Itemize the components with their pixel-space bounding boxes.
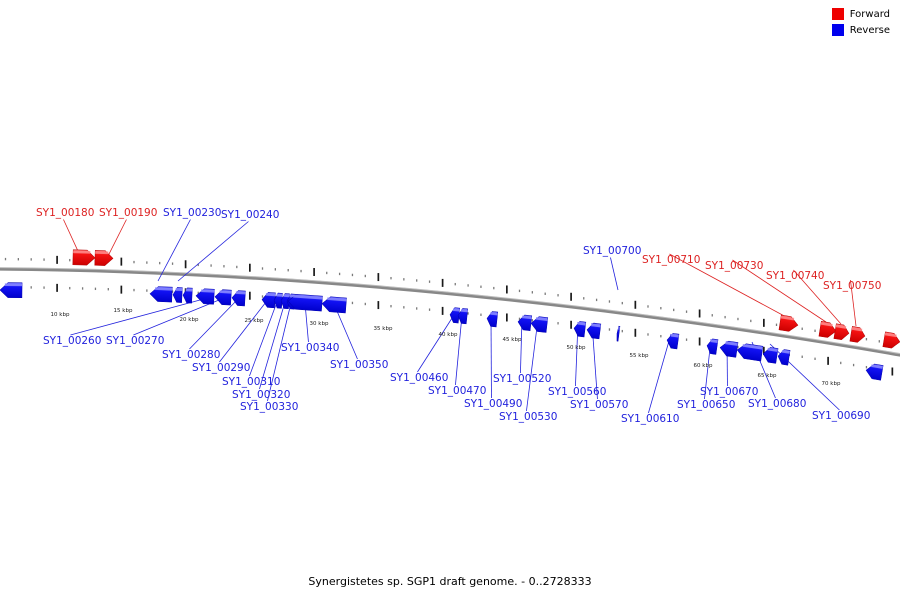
axis-minor-tick [172, 262, 173, 264]
gene-label[interactable]: SY1_00290 [192, 362, 250, 374]
gene-arrow[interactable] [706, 338, 718, 354]
gene-label[interactable]: SY1_00670 [700, 386, 758, 398]
gene-arrow[interactable] [530, 316, 548, 333]
legend-label-reverse: Reverse [850, 25, 890, 36]
scale-tick-label: 10 kbp [51, 312, 70, 318]
axis-minor-tick [480, 314, 481, 316]
axis-minor-tick [159, 262, 160, 264]
axis-minor-tick [557, 294, 558, 296]
axis-major-tick [185, 260, 187, 268]
gene-label-leader-line [133, 300, 219, 335]
axis-minor-tick [146, 261, 147, 263]
axis-minor-tick [750, 320, 751, 322]
gene-top-highlight [5, 283, 22, 286]
scale-tick-label: 40 kbp [439, 332, 458, 338]
axis-minor-tick [686, 310, 687, 312]
axis-major-tick [570, 321, 572, 329]
axis-minor-tick [814, 330, 815, 332]
axis-minor-tick [403, 306, 404, 308]
gene-label[interactable]: SY1_00490 [464, 398, 522, 410]
gene-label-leader-line [158, 220, 190, 282]
axis-minor-tick [352, 274, 353, 276]
axis-minor-tick [737, 318, 738, 320]
axis-minor-tick [853, 364, 854, 366]
gene-label[interactable]: SY1_00610 [621, 413, 679, 425]
axis-minor-tick [647, 333, 648, 335]
scale-tick-label: 65 kbp [758, 373, 777, 379]
axis-minor-tick [339, 273, 340, 275]
gene-top-highlight [186, 289, 193, 292]
axis-minor-tick [133, 261, 134, 263]
gene-arrow[interactable] [586, 322, 601, 338]
gene-arrow[interactable] [95, 250, 113, 266]
axis-minor-tick [275, 268, 276, 270]
axis-major-tick [506, 313, 508, 321]
axis-minor-tick [866, 338, 867, 340]
gene-label-leader-line [189, 300, 237, 349]
genome-map: 10 kbp15 kbp20 kbp25 kbp30 kbp35 kbp40 k… [0, 0, 900, 600]
axis-minor-tick [403, 278, 404, 280]
scale-tick-label: 45 kbp [503, 337, 522, 343]
axis-minor-tick [776, 324, 777, 326]
gene-arrow-layer[interactable] [0, 250, 900, 381]
axis-minor-tick [31, 286, 32, 288]
axis-minor-tick [724, 316, 725, 318]
axis-major-tick [313, 268, 315, 276]
scale-tick-label: 70 kbp [822, 381, 841, 387]
axis-major-tick [249, 264, 251, 272]
gene-label[interactable]: SY1_00240 [221, 209, 279, 221]
gene-label[interactable]: SY1_00680 [748, 398, 806, 410]
gene-top-highlight [176, 288, 183, 291]
axis-minor-tick [686, 338, 687, 340]
gene-label-leader-line [455, 315, 462, 385]
axis-minor-tick [390, 305, 391, 307]
gene-arrow[interactable] [183, 288, 193, 303]
gene-label[interactable]: SY1_00270 [106, 335, 164, 347]
gene-top-highlight [95, 251, 108, 254]
axis-minor-tick [455, 283, 456, 285]
gene-label-leader-line [610, 258, 618, 291]
gene-label[interactable]: SY1_00330 [240, 401, 298, 413]
forward-swatch [832, 8, 844, 20]
gene-arrow[interactable] [517, 314, 532, 330]
gene-label[interactable]: SY1_00650 [677, 399, 735, 411]
axis-minor-tick [69, 287, 70, 289]
axis-major-tick [121, 286, 123, 294]
gene-arrow[interactable] [486, 311, 498, 327]
axis-minor-tick [467, 312, 468, 314]
gene-arrow[interactable] [736, 343, 763, 362]
gene-label[interactable]: SY1_00460 [390, 372, 448, 384]
gene-label[interactable]: SY1_00320 [232, 389, 290, 401]
gene-label-leader-line [249, 302, 277, 376]
gene-label[interactable]: SY1_00570 [570, 399, 628, 411]
axis-minor-tick [236, 266, 237, 268]
gene-label-leader-line [526, 319, 538, 411]
axis-minor-tick [609, 328, 610, 330]
axis-minor-tick [262, 267, 263, 269]
gene-label[interactable]: SY1_00520 [493, 373, 551, 385]
axis-minor-tick [532, 291, 533, 293]
axis-minor-tick [210, 264, 211, 266]
axis-minor-tick [493, 287, 494, 289]
axis-minor-tick [416, 279, 417, 281]
gene-arrow[interactable] [0, 283, 22, 298]
axis-minor-tick [660, 307, 661, 309]
scale-tick-label: 25 kbp [245, 318, 264, 324]
gene-label[interactable]: SY1_00470 [428, 385, 486, 397]
axis-minor-tick [5, 258, 6, 260]
scale-tick-label: 55 kbp [630, 353, 649, 359]
gene-label[interactable]: SY1_00280 [162, 349, 220, 361]
gene-top-highlight [283, 294, 289, 297]
axis-minor-tick [660, 335, 661, 337]
axis-minor-tick [429, 280, 430, 282]
axis-minor-tick [352, 302, 353, 304]
axis-minor-tick [262, 295, 263, 297]
axis-minor-tick [43, 258, 44, 260]
gene-arrow[interactable] [666, 333, 679, 349]
gene-top-highlight [73, 251, 90, 254]
axis-minor-tick [108, 288, 109, 290]
gene-arrow[interactable] [865, 363, 883, 380]
axis-minor-tick [814, 358, 815, 360]
gene-arrow[interactable] [779, 315, 799, 333]
gene-arrow[interactable] [215, 289, 232, 305]
axis-minor-tick [43, 286, 44, 288]
axis-major-tick [892, 368, 894, 376]
scale-tick-label: 50 kbp [567, 345, 586, 351]
axis-minor-tick [390, 277, 391, 279]
axis-major-tick [378, 273, 380, 281]
axis-minor-tick [840, 362, 841, 364]
gene-label[interactable]: SY1_00730 [705, 260, 763, 272]
gene-arrow[interactable] [883, 332, 900, 349]
axis-minor-tick [480, 286, 481, 288]
gene-label-leader-line [417, 315, 454, 372]
gene-arrow[interactable] [777, 349, 790, 366]
scale-tick-label: 30 kbp [310, 321, 329, 327]
axis-minor-tick [557, 322, 558, 324]
axis-major-tick [635, 301, 637, 309]
gene-label[interactable]: SY1_00560 [548, 386, 606, 398]
axis-minor-tick [545, 293, 546, 295]
axis-minor-tick [31, 258, 32, 260]
axis-minor-tick [519, 290, 520, 292]
axis-minor-tick [365, 275, 366, 277]
axis-minor-tick [223, 265, 224, 267]
axis-minor-tick [802, 328, 803, 330]
axis-minor-tick [583, 297, 584, 299]
gene-label[interactable]: SY1_00340 [281, 342, 339, 354]
axis-minor-tick [416, 307, 417, 309]
axis-minor-tick [365, 303, 366, 305]
axis-major-tick [635, 329, 637, 337]
gene-label-leader-line [178, 222, 248, 282]
gene-arrow[interactable] [73, 250, 95, 266]
axis-minor-tick [82, 287, 83, 289]
axis-minor-tick [879, 340, 880, 342]
axis-major-tick [442, 307, 444, 315]
axis-minor-tick [326, 272, 327, 274]
axis-minor-tick [712, 314, 713, 316]
axis-minor-tick [95, 288, 96, 290]
strand-legend: Forward Reverse [832, 8, 890, 36]
axis-minor-tick [647, 305, 648, 307]
axis-major-tick [506, 285, 508, 293]
axis-major-tick [56, 256, 58, 264]
axis-major-tick [570, 293, 572, 301]
gene-arrow[interactable] [321, 296, 346, 313]
axis-major-tick [249, 292, 251, 300]
axis-minor-tick [866, 366, 867, 368]
axis-minor-tick [467, 284, 468, 286]
axis-minor-tick [609, 300, 610, 302]
gene-arrow[interactable] [834, 324, 850, 341]
gene-label[interactable]: SY1_00530 [499, 411, 557, 423]
axis-minor-tick [69, 259, 70, 261]
scale-tick-label: 35 kbp [374, 326, 393, 332]
legend-label-forward: Forward [850, 9, 890, 20]
axis-minor-tick [532, 319, 533, 321]
gene-label-leader-line [648, 334, 671, 413]
gene-label[interactable]: SY1_00750 [823, 280, 881, 292]
axis-minor-tick [18, 258, 19, 260]
axis-minor-tick [622, 302, 623, 304]
gene-arrow[interactable] [719, 340, 738, 357]
axis-minor-tick [288, 269, 289, 271]
gene-arrow[interactable] [150, 286, 173, 302]
legend-item-reverse: Reverse [832, 24, 890, 36]
axis-minor-tick [673, 309, 674, 311]
axis-major-tick [442, 279, 444, 287]
gene-arrow[interactable] [616, 326, 620, 341]
axis-major-tick [121, 258, 123, 266]
gene-label[interactable]: SY1_00350 [330, 359, 388, 371]
axis-major-tick [378, 301, 380, 309]
gene-top-highlight [236, 291, 246, 294]
gene-label[interactable]: SY1_00260 [43, 335, 101, 347]
axis-minor-tick [146, 289, 147, 291]
scale-tick-label: 20 kbp [180, 317, 199, 323]
axis-minor-tick [300, 270, 301, 272]
gene-label[interactable]: SY1_00690 [812, 410, 870, 422]
gene-top-highlight [276, 294, 282, 297]
axis-minor-tick [622, 330, 623, 332]
gene-label[interactable]: SY1_00310 [222, 376, 280, 388]
scale-tick-label: 60 kbp [694, 363, 713, 369]
legend-item-forward: Forward [832, 8, 890, 20]
axis-major-tick [763, 319, 765, 327]
axis-minor-tick [133, 289, 134, 291]
gene-arrow[interactable] [850, 326, 866, 343]
reverse-swatch [832, 24, 844, 36]
axis-major-tick [699, 337, 701, 345]
axis-major-tick [56, 284, 58, 292]
gene-label[interactable]: SY1_00710 [642, 254, 700, 266]
axis-minor-tick [802, 356, 803, 358]
axis-minor-tick [429, 308, 430, 310]
axis-minor-tick [596, 299, 597, 301]
axis-major-tick [699, 309, 701, 317]
scale-tick-label: 15 kbp [114, 308, 133, 314]
gene-arrow[interactable] [173, 287, 183, 302]
gene-arrow[interactable] [196, 288, 215, 304]
gene-label[interactable]: SY1_00230 [163, 207, 221, 219]
axis-major-tick [827, 357, 829, 365]
figure-caption: Synergistetes sp. SGP1 draft genome. - 0… [0, 575, 900, 588]
gene-label[interactable]: SY1_00740 [766, 270, 824, 282]
gene-arrow[interactable] [573, 321, 586, 337]
gene-label[interactable]: SY1_00180 [36, 207, 94, 219]
gene-label[interactable]: SY1_00700 [583, 245, 641, 257]
gene-label[interactable]: SY1_00190 [99, 207, 157, 219]
